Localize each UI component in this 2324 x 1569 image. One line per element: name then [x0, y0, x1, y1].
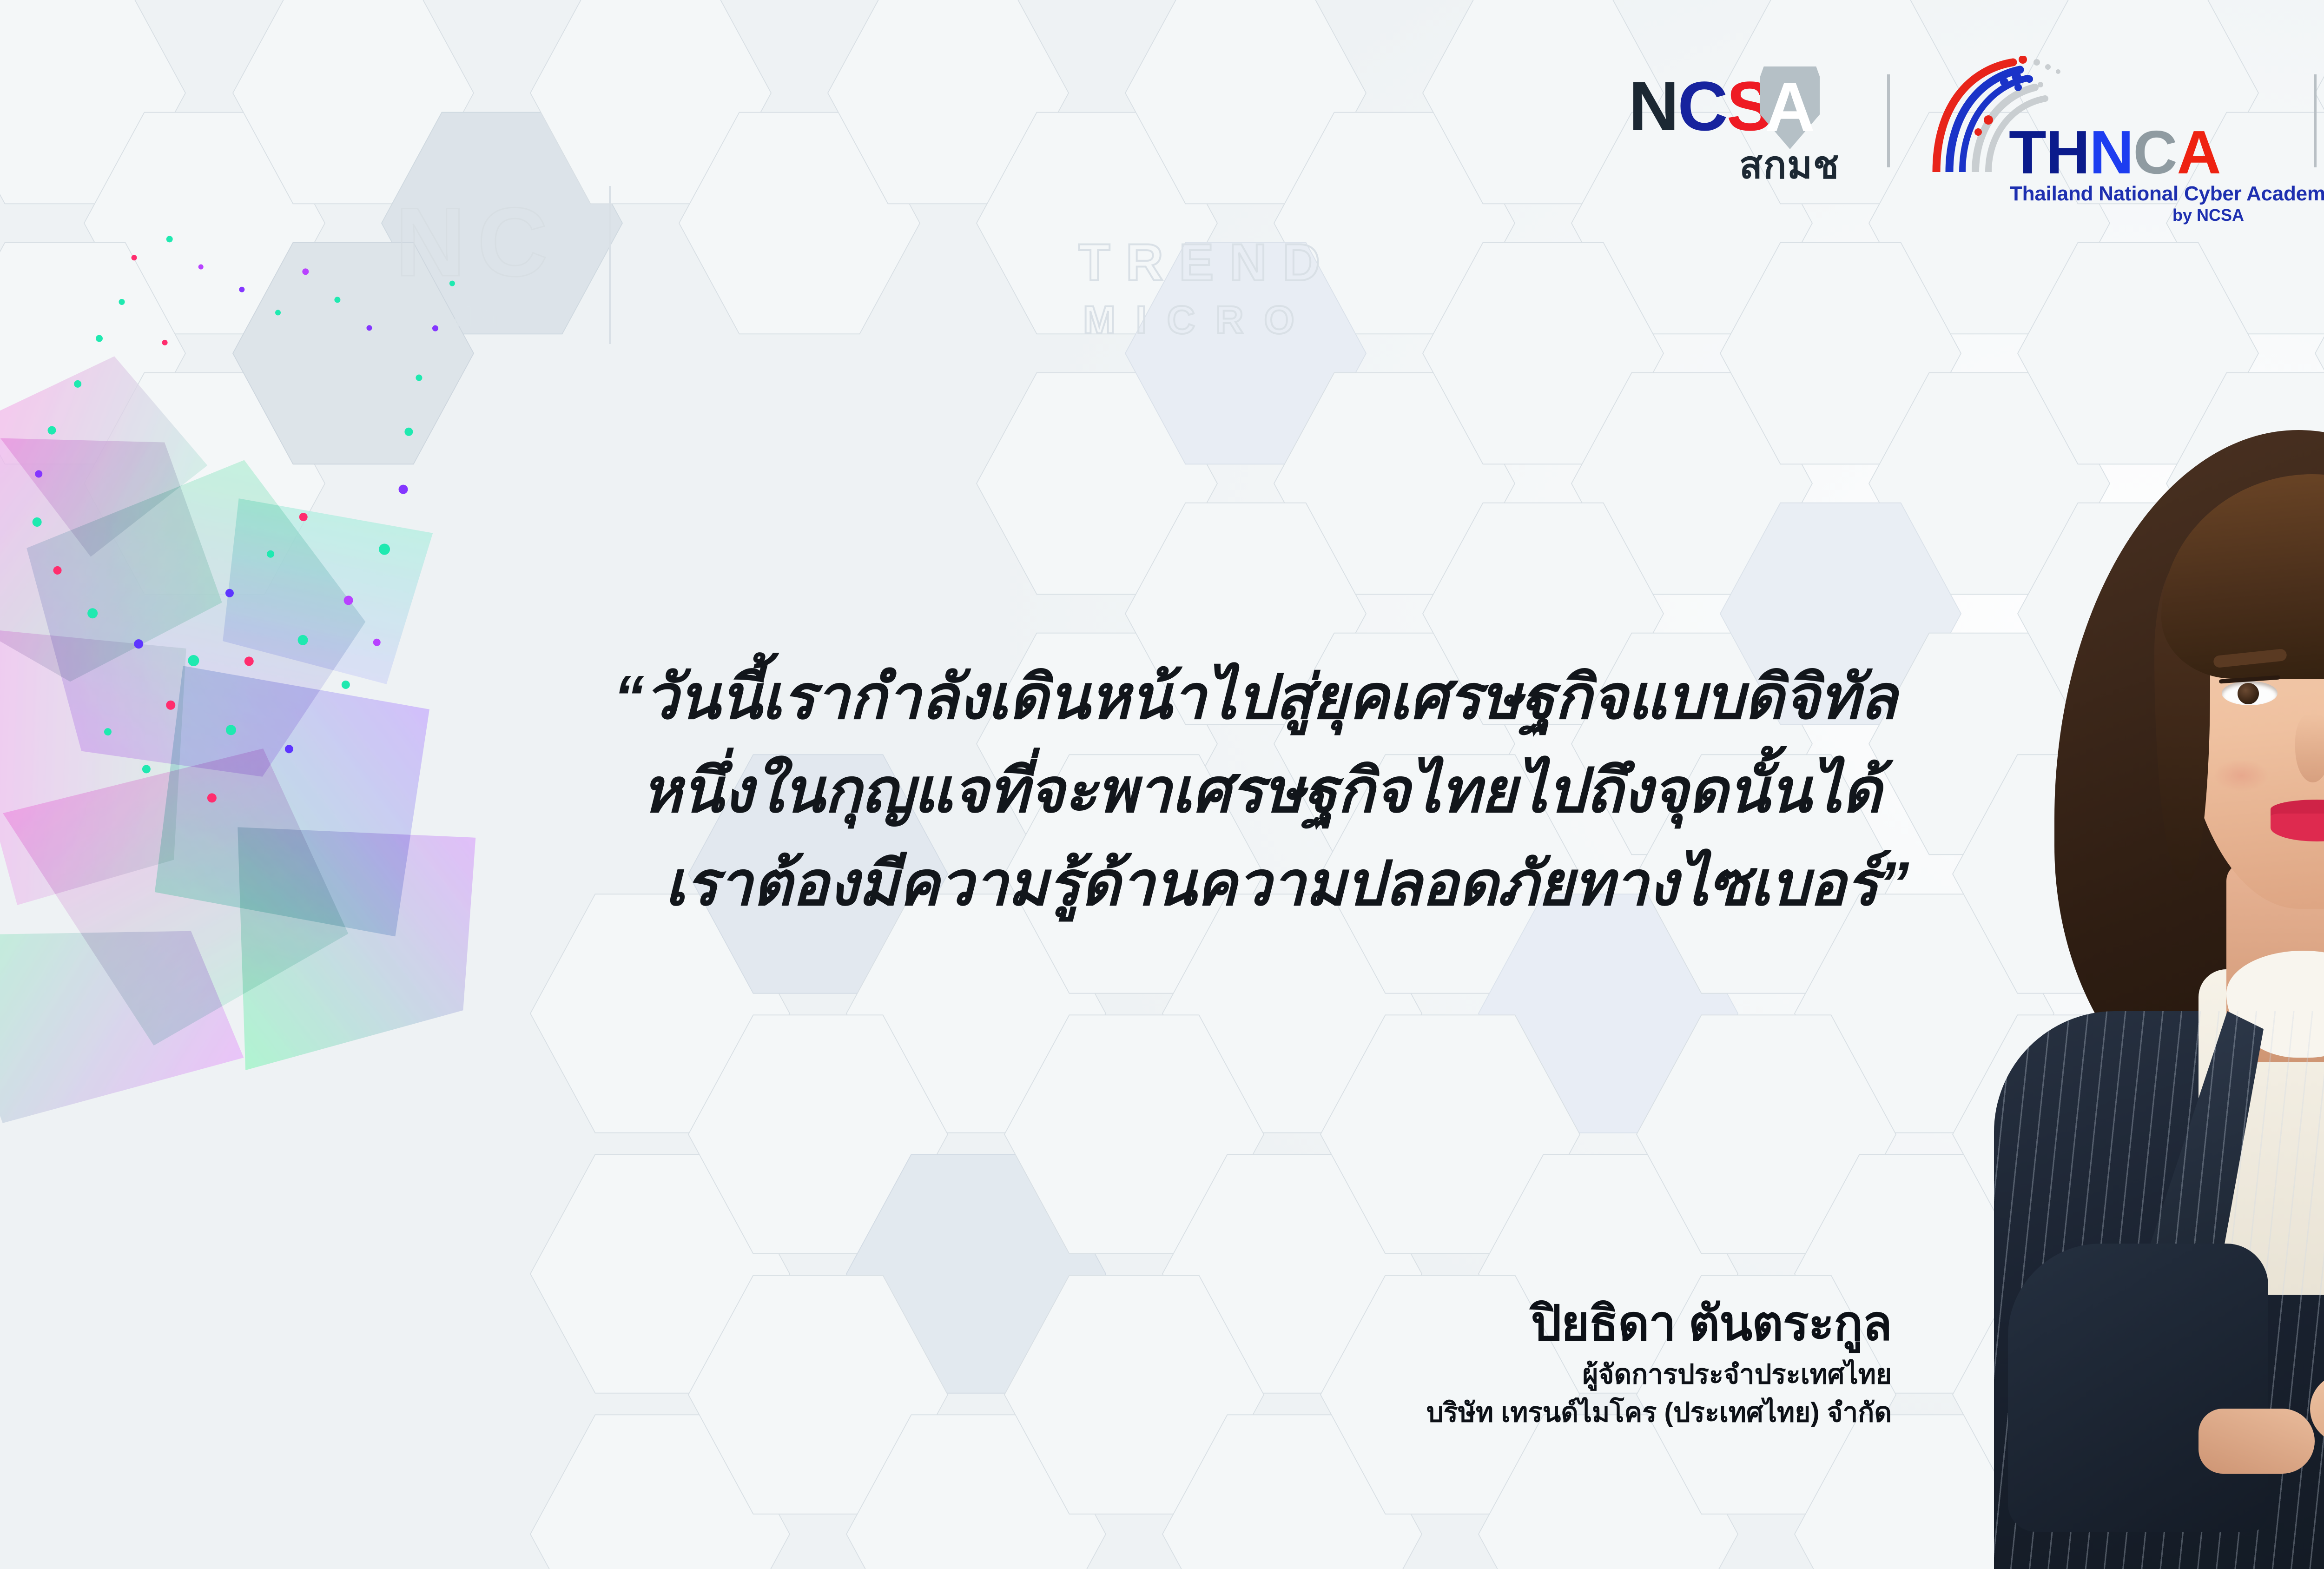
ncsa-letter-c: C [1677, 67, 1726, 145]
thnca-wordmark: THNCA [2009, 122, 2220, 183]
quote-block: “วันนี้เรากำลังเดินหน้าไปสู่ยุคเศรษฐกิจแ… [614, 651, 2008, 931]
speaker-company: บริษัท เทรนด์ไมโคร (ประเทศไทย) จำกัด [1426, 1397, 1892, 1429]
ncsa-thai-subtitle: สกมช [1739, 135, 1840, 195]
speaker-attribution: ปิยธิดา ตันตระกูล ผู้จัดการประจำประเทศไท… [1426, 1297, 1892, 1429]
thnca-letter-c: C [2133, 118, 2177, 186]
quote-line-3: เราต้องมีความรู้ด้านความปลอดภัยทางไซเบอร… [614, 837, 2008, 931]
speaker-portrait [1901, 360, 2324, 1569]
portrait-blush-left [2213, 759, 2269, 792]
crystalline-artwork [0, 158, 644, 1125]
speaker-role: ผู้จัดการประจำประเทศไทย [1426, 1358, 1892, 1391]
micro-watermark: MICRO [1083, 298, 1314, 343]
thnca-logo[interactable]: THNCA Thailand National Cyber Academy by… [1934, 56, 2269, 186]
thnca-letter-n: N [2089, 118, 2133, 186]
portrait-hand-right [2199, 1409, 2315, 1474]
speaker-name: ปิยธิดา ตันตระกูล [1426, 1297, 1892, 1350]
portrait-arm-left [2008, 1244, 2268, 1532]
thnca-letter-a: A [2177, 118, 2220, 186]
ncsa-letter-a: A [1760, 72, 1820, 142]
ncsa-logo[interactable]: NCS A สกมช [1629, 63, 1842, 179]
ncsa-letter-n: N [1629, 67, 1677, 145]
quote-line-1: “วันนี้เรากำลังเดินหน้าไปสู่ยุคเศรษฐกิจแ… [614, 651, 2008, 744]
quote-line-2: หนึ่งในกุญแจที่จะพาเศรษฐกิจไทยไปถึงจุดนั… [614, 744, 2008, 838]
trend-watermark: TREND [1078, 232, 1336, 292]
logo-divider-2 [2314, 74, 2317, 167]
poster-canvas: NC สกมช TREND MICRO [0, 0, 2324, 1569]
thnca-by-line: by NCSA [2172, 205, 2244, 225]
thnca-letters-th: TH [2009, 118, 2089, 186]
portrait-eye-left [2222, 681, 2278, 705]
logo-bar: NCS A สกมช [1629, 56, 2324, 186]
watermark-divider [609, 186, 611, 344]
ncsa-wordmark: NCS [1629, 71, 1772, 141]
thnca-tagline: Thailand National Cyber Academy [2010, 182, 2324, 205]
logo-divider-1 [1887, 74, 1890, 167]
